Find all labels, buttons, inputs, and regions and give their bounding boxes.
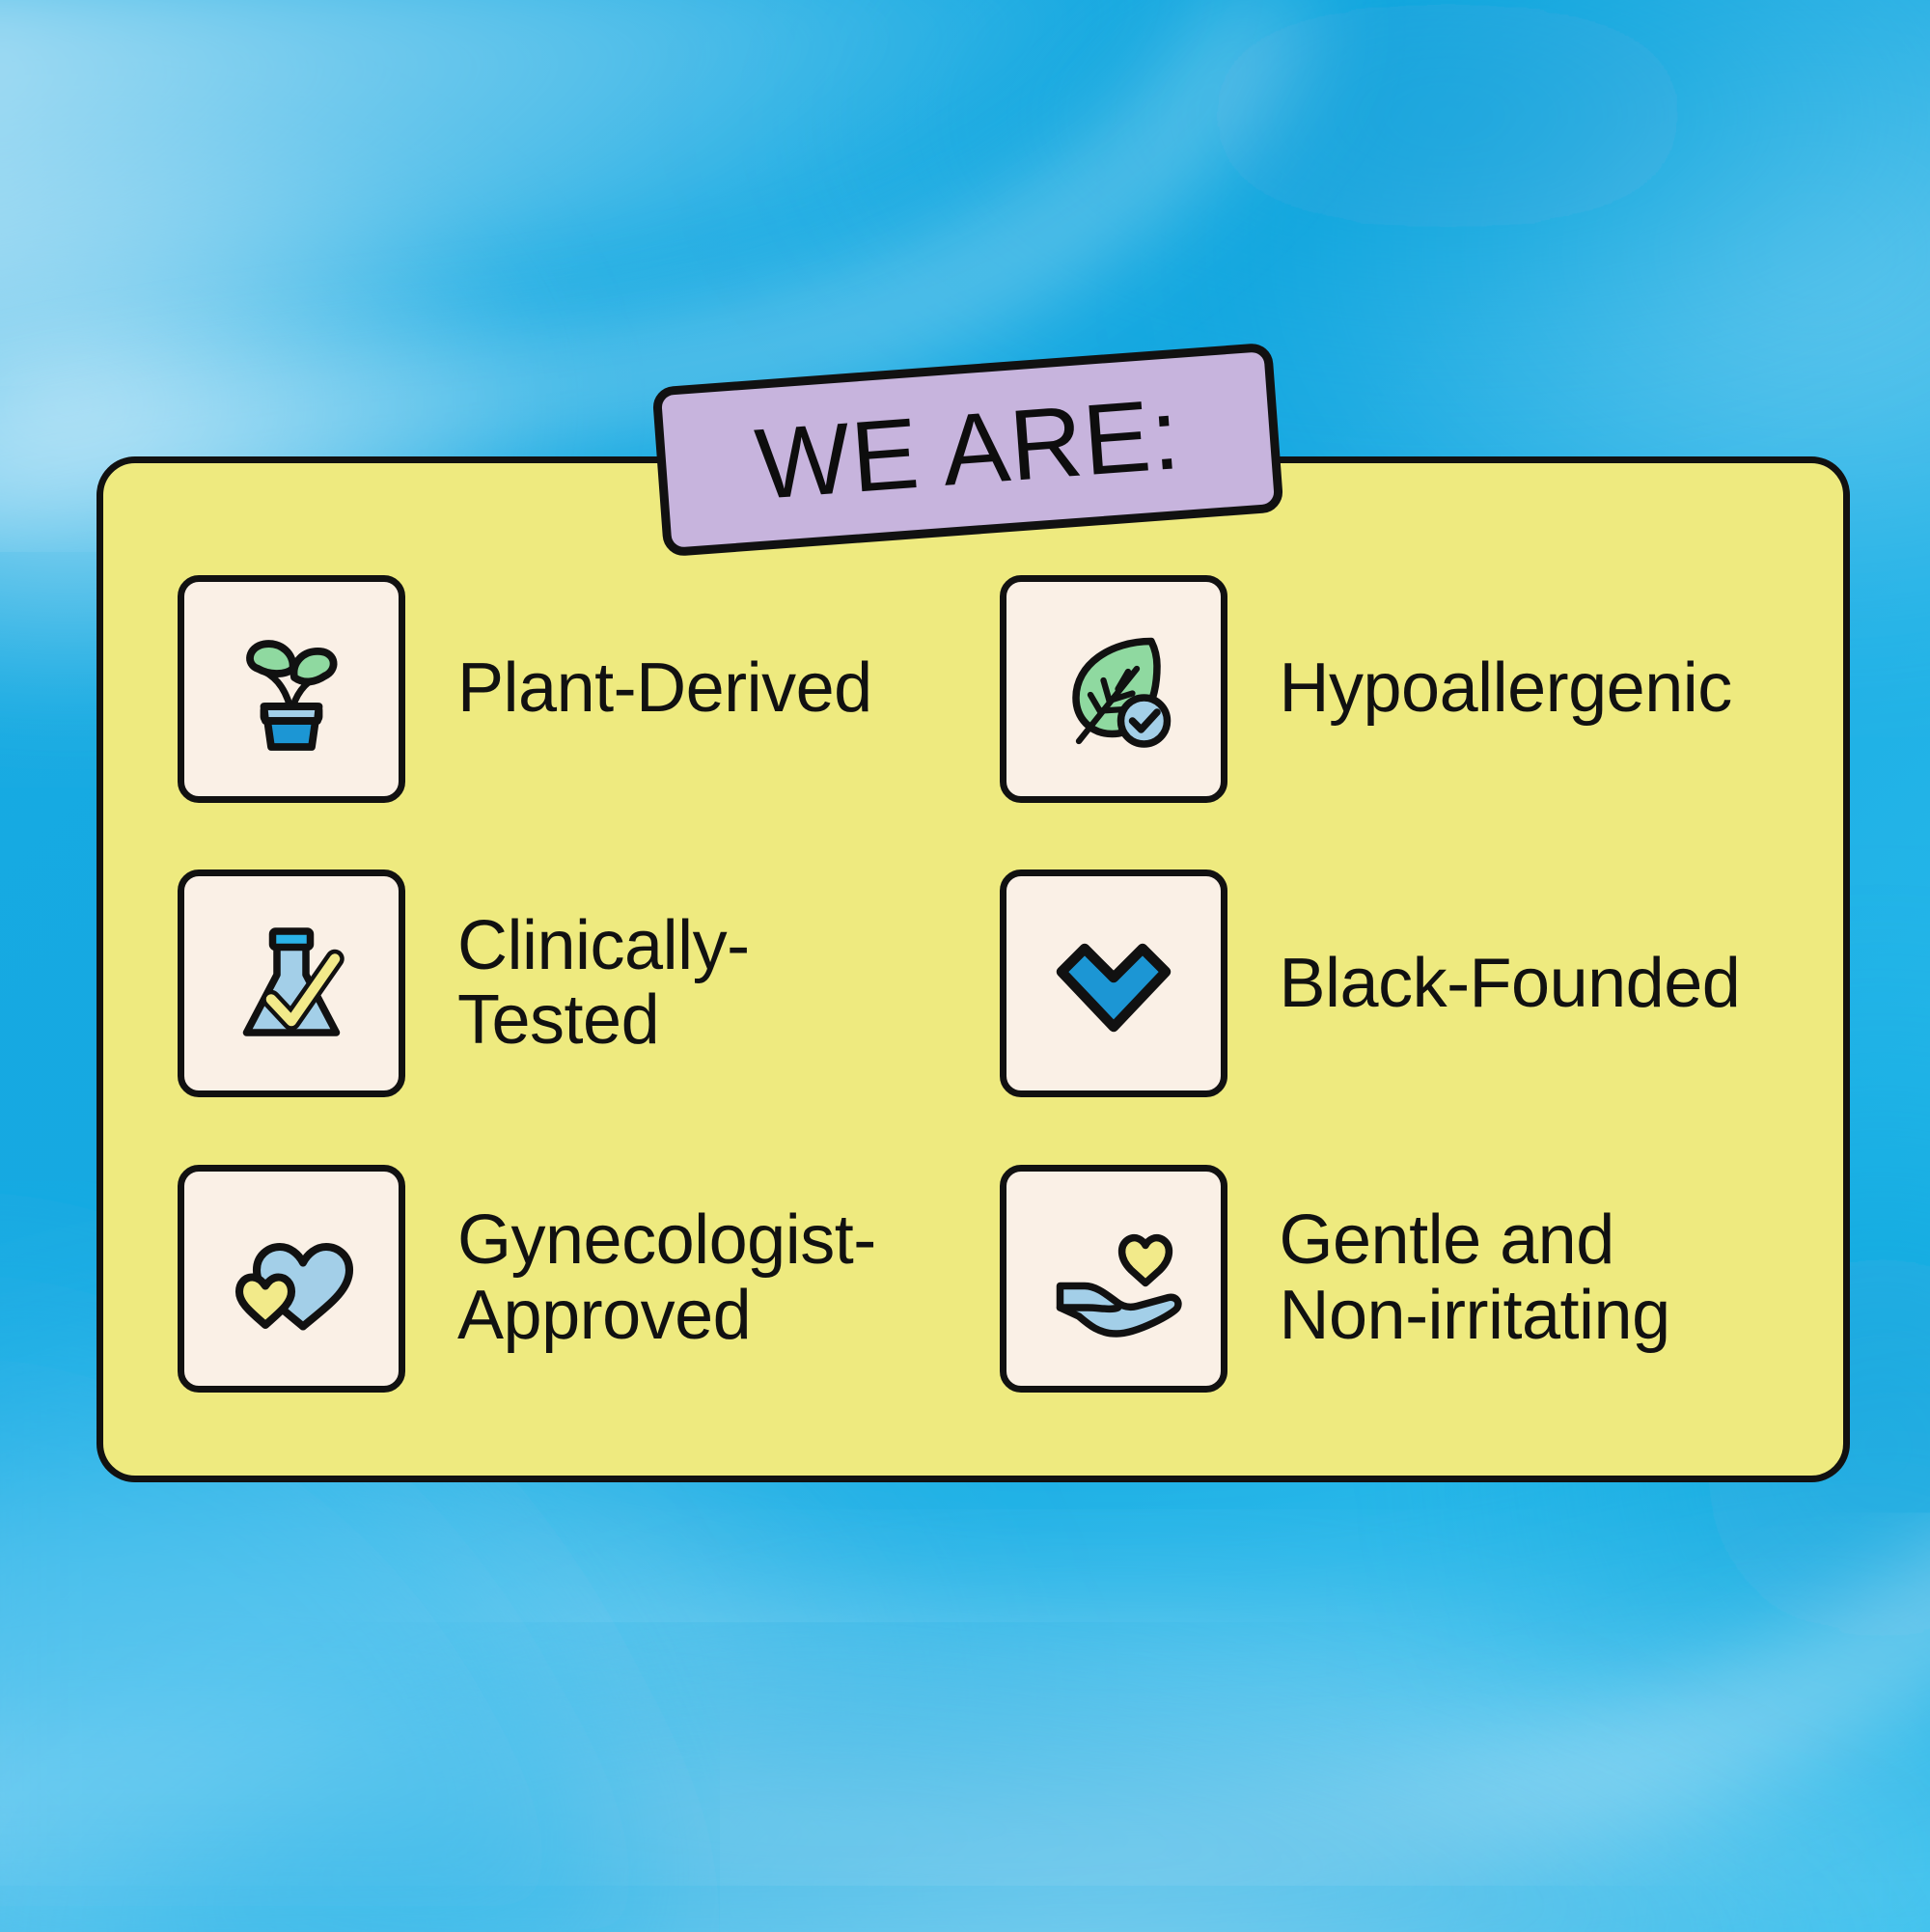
feature-item-plant-derived: Plant-Derived [178,541,990,837]
banner-title: WE ARE: [753,384,1184,515]
icon-tile-gentle-non-irritating [1000,1165,1227,1393]
feature-label-black-founded: Black-Founded [1280,947,1741,1022]
feature-item-black-founded: Black-Founded [1000,837,1812,1132]
feature-label-gynecologist-approved: Gynecologist- Approved [457,1203,876,1354]
potted-plant-icon [219,617,364,761]
feature-label-gentle-non-irritating: Gentle and Non-irritating [1280,1203,1670,1354]
hand-heart-icon [1041,1206,1186,1351]
flask-check-icon [219,911,364,1056]
feature-label-clinically-tested: Clinically- Tested [457,909,750,1060]
feature-item-gynecologist-approved: Gynecologist- Approved [178,1131,990,1426]
feature-item-gentle-non-irritating: Gentle and Non-irritating [1000,1131,1812,1426]
feature-item-clinically-tested: Clinically- Tested [178,837,990,1132]
icon-tile-gynecologist-approved [178,1165,405,1393]
double-heart-icon [219,1206,364,1351]
heart-icon [1041,911,1186,1056]
leaf-check-icon [1041,617,1186,761]
icon-tile-plant-derived [178,575,405,803]
icon-tile-black-founded [1000,869,1227,1097]
feature-label-hypoallergenic: Hypoallergenic [1280,651,1732,727]
feature-item-hypoallergenic: Hypoallergenic [1000,541,1812,837]
icon-tile-clinically-tested [178,869,405,1097]
icon-tile-hypoallergenic [1000,575,1227,803]
feature-grid: Plant-Derived [96,456,1850,1482]
feature-label-plant-derived: Plant-Derived [457,651,872,727]
